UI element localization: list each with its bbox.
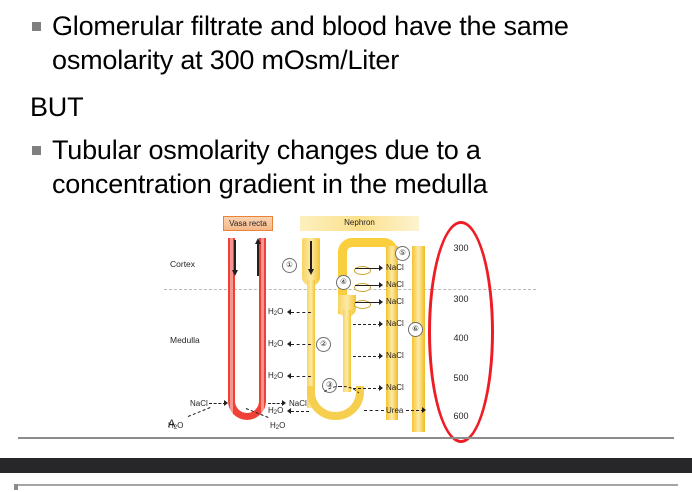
vasa-nacl-arrowhead-left: [224, 400, 228, 406]
h2o-efflux-arrow-2: [291, 344, 311, 345]
slide-canvas: Glomerular filtrate and blood have the s…: [0, 0, 692, 492]
step-marker-6: ⑥: [408, 322, 423, 337]
vasa-recta-highlight-right: [261, 238, 264, 413]
nacl-pump-arrow-1: [355, 268, 381, 269]
nephron-flow-arrow-head: [308, 269, 314, 275]
osmolarity-value-5: 600: [441, 411, 481, 421]
square-bullet-icon: [32, 146, 41, 155]
loop-h2o-arrow: [291, 411, 309, 412]
osmolarity-value-2: 300: [441, 294, 481, 304]
square-bullet-icon: [32, 22, 41, 31]
loop-h2o-label: H2O: [268, 406, 283, 416]
vasa-descending-arrow-shaft: [234, 240, 236, 272]
h2o-efflux-label-3: H2O: [268, 371, 283, 381]
nacl-pump-label-2: NaCl: [386, 280, 404, 289]
nephron-header: Nephron: [300, 216, 419, 231]
step-marker-2: ②: [316, 337, 331, 352]
footer-bottom-rule: [14, 484, 678, 486]
panel-letter-a: A: [168, 418, 175, 430]
vasa-nacl-label-right: NaCl: [289, 399, 307, 408]
nacl-diffusion-arrowhead-3: [379, 385, 383, 391]
step-marker-4: ④: [336, 275, 351, 290]
cortex-label: Cortex: [170, 259, 195, 269]
nacl-pump-arrow-3: [355, 302, 381, 303]
nacl-pump-arrowhead-2: [379, 282, 383, 288]
nacl-pump-arrowhead-3: [379, 299, 383, 305]
osmolarity-value-1: 300: [441, 243, 481, 253]
nacl-diffusion-label-1: NaCl: [386, 319, 404, 328]
bullet-1-line-2: osmolarity at 300 mOsm/Liter: [52, 44, 672, 77]
osmolarity-gradient-highlight-ellipse: [428, 221, 494, 443]
h2o-efflux-arrow-3: [291, 376, 311, 377]
vasa-h2o-arrow-left: [188, 407, 211, 417]
collecting-duct: [412, 246, 425, 432]
vasa-ascending-arrow-head: [255, 238, 261, 244]
bullet-2-line-1: Tubular osmolarity changes due to a: [52, 134, 672, 167]
vasa-h2o-label-right: H2O: [270, 421, 285, 431]
nacl-pump-label-1: NaCl: [386, 263, 404, 272]
h2o-efflux-arrow-1: [291, 312, 311, 313]
vasa-recta-highlight-left: [230, 238, 233, 413]
medulla-label: Medulla: [170, 335, 200, 345]
footer-bottom-tick: [14, 484, 18, 490]
nacl-diffusion-arrowhead-1: [379, 321, 383, 327]
thin-ascending-limb: [343, 310, 351, 392]
urea-label: Urea: [386, 406, 403, 415]
osmolarity-value-4: 500: [441, 373, 481, 383]
nacl-diffusion-arrow-3: [353, 388, 381, 389]
vasa-ascending-arrow-shaft: [257, 244, 259, 276]
nacl-diffusion-label-2: NaCl: [386, 351, 404, 360]
conjunction-but: BUT: [30, 91, 83, 124]
vasa-recta-header: Vasa recta: [223, 216, 273, 231]
nacl-diffusion-arrowhead-2: [379, 353, 383, 359]
h2o-efflux-label-2: H2O: [268, 339, 283, 349]
bullet-2-line-2: concentration gradient in the medulla: [52, 168, 672, 201]
nacl-diffusion-label-3: NaCl: [386, 383, 404, 392]
vasa-nacl-label-left: NaCl: [190, 399, 208, 408]
urea-arrowhead: [422, 407, 426, 413]
urea-arrow-in: [364, 410, 384, 411]
step-marker-1: ①: [282, 258, 297, 273]
bullet-1-line-1: Glomerular filtrate and blood have the s…: [52, 10, 672, 43]
vasa-descending-arrow-head: [232, 270, 238, 276]
footer-dark-bar: [0, 458, 692, 473]
content-divider-rule: [18, 437, 674, 439]
nacl-pump-arrowhead-1: [379, 265, 383, 271]
nacl-pump-label-3: NaCl: [386, 297, 404, 306]
osmolarity-value-3: 400: [441, 333, 481, 343]
nacl-pump-arrow-2: [355, 285, 381, 286]
h2o-efflux-label-1: H2O: [268, 307, 283, 317]
step-marker-5: ⑤: [395, 246, 410, 261]
ascending-limb-column: [386, 246, 398, 420]
nacl-diffusion-arrow-1: [353, 324, 381, 325]
nacl-diffusion-arrow-2: [353, 356, 381, 357]
nephron-flow-arrow-shaft: [310, 241, 312, 271]
